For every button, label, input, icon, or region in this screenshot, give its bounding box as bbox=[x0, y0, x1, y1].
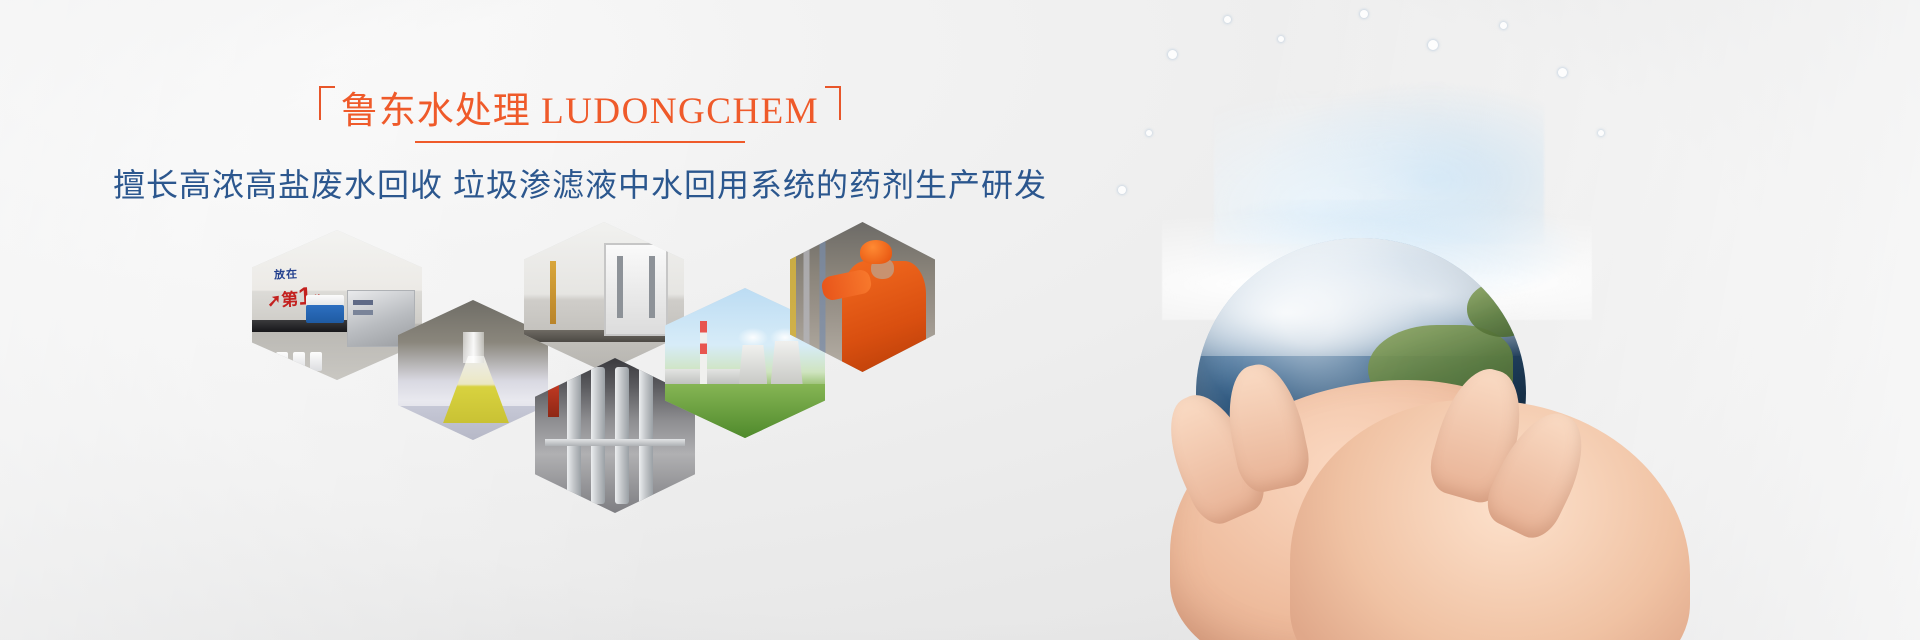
process-column bbox=[567, 367, 581, 503]
brand-title: 鲁东水处理 LUDONGCHEM bbox=[341, 92, 819, 131]
bracket-top-left-icon bbox=[319, 86, 335, 120]
reagent-jug bbox=[276, 352, 288, 372]
erlenmeyer-flask bbox=[443, 356, 509, 423]
process-column bbox=[615, 367, 629, 503]
brand-title-en: LUDONGCHEM bbox=[541, 91, 819, 132]
water-droplet bbox=[1428, 40, 1438, 50]
cooling-tower bbox=[739, 345, 768, 384]
reagent-jug bbox=[293, 352, 305, 372]
smokestack bbox=[700, 321, 707, 384]
cooling-tower bbox=[771, 341, 803, 385]
water-droplet bbox=[1224, 16, 1231, 23]
process-column bbox=[591, 367, 605, 503]
brand-title-cn: 鲁东水处理 bbox=[341, 91, 531, 132]
reagent-jug bbox=[310, 352, 322, 372]
water-droplet bbox=[1558, 68, 1567, 77]
banner-subtitle: 擅长高浓高盐废水回收 垃圾渗滤液中水回用系统的药剂生产研发 bbox=[0, 160, 1160, 206]
water-droplet bbox=[1168, 50, 1177, 59]
glass-stand bbox=[550, 261, 556, 324]
wall-slogan-top: 放在 bbox=[274, 265, 299, 282]
brand-title-wrap: 鲁东水处理 LUDONGCHEM bbox=[319, 86, 841, 136]
pipe-rail bbox=[545, 439, 686, 447]
water-globe-in-hands bbox=[1070, 0, 1710, 640]
safety-helmet-icon bbox=[860, 240, 892, 264]
water-droplet bbox=[1500, 22, 1507, 29]
red-valve bbox=[548, 383, 559, 417]
flask-neck bbox=[463, 332, 484, 363]
cupped-hands bbox=[1110, 340, 1670, 640]
water-droplet bbox=[1598, 130, 1604, 136]
hex-tile-lab-glassware-equipment[interactable] bbox=[524, 222, 684, 372]
photo-laboratory-room: 放在 ➚第1位 bbox=[252, 230, 422, 380]
bracket-top-right-icon bbox=[825, 86, 841, 120]
headline-block: 鲁东水处理 LUDONGCHEM 擅长高浓高盐废水回收 垃圾渗滤液中水回用系统的… bbox=[0, 86, 1160, 206]
hero-banner: 鲁东水处理 LUDONGCHEM 擅长高浓高盐废水回收 垃圾渗滤液中水回用系统的… bbox=[0, 0, 1920, 640]
process-column bbox=[639, 367, 653, 503]
equipment-frame bbox=[604, 243, 668, 336]
hex-tile-laboratory-room[interactable]: 放在 ➚第1位 bbox=[252, 230, 422, 380]
lab-machine bbox=[306, 305, 343, 323]
water-droplet bbox=[1360, 10, 1368, 18]
photo-lab-glassware-equipment bbox=[524, 222, 684, 372]
water-droplet bbox=[1278, 36, 1284, 42]
title-underline bbox=[415, 141, 745, 143]
